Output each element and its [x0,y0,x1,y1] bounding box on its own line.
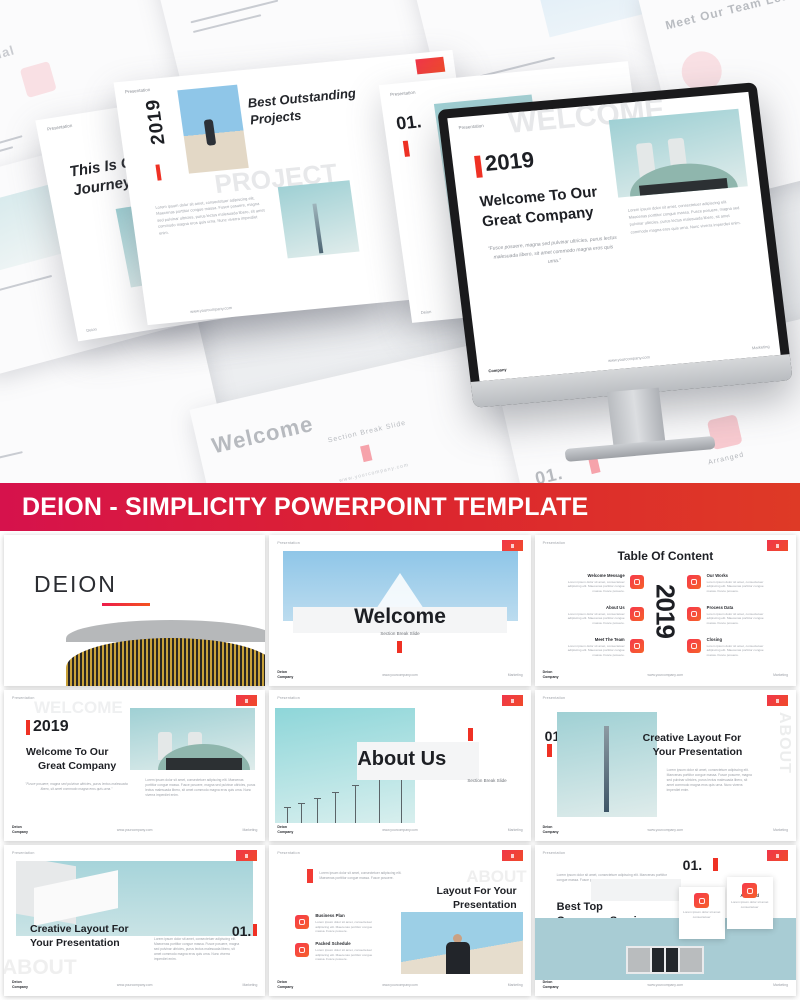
slide-watermark: ABOUT [4,956,77,980]
slide-corner-badge [767,850,788,861]
slide-number: 01. [443,0,476,4]
slide-quote: "Fusce posuere, magna sed pulvinar ultri… [487,234,620,272]
printed-slide-number: 01. [395,111,423,134]
accent-bar [713,858,718,871]
toc-year: 2019 [650,584,681,638]
slide-header-label: Presentation [12,696,35,700]
footer-company: DeionCompany [543,670,559,679]
accent-bar [253,924,257,936]
slide-number: 01. [533,463,565,483]
slide-header-label: Presentation [277,541,300,545]
accent-bar [26,720,30,735]
welcome-title: Welcome [269,605,530,629]
footer-url: www.yourcompany.com [339,462,410,483]
slide-corner-badge [502,540,523,551]
footer-company: DeionCompany [277,670,293,679]
gear-icon [742,883,757,898]
slide-header-label: Presentation [543,851,566,855]
printed-slide-title: Best Outstanding Projects [247,84,371,129]
footer-url: www.yourcompany.com [382,983,418,987]
toc-title: Table Of Content [535,549,796,563]
card-text: Lorem ipsum dolor sit amet consectetuer [679,910,725,919]
printed-slide-year: 2019 [142,98,170,146]
footer-url: www.yourcompany.com [648,673,684,677]
footer-right-label: Marketing [773,673,788,677]
briefcase-icon [694,893,709,908]
footer-right-label: Marketing [508,673,523,677]
slide-header-label: Presentation [277,851,300,855]
toc-item-text: Lorem ipsum dolor sit amet, consectetuer… [559,612,625,626]
footer-url: www.yourcompany.com [117,828,153,832]
slide-title-line2: Your Presentation [30,937,120,949]
slide-thumb-welcome[interactable]: Presentation Welcome Section Break Slide… [269,535,530,686]
footer-right-label: Marketing [508,828,523,832]
footer-company: DeionCompany [277,825,293,834]
footer-company: DeionCompany [12,980,28,989]
footer-company: Company [488,367,507,374]
toc-item-label: Our Works [707,573,773,578]
footer-url: www.yourcompany.com [648,983,684,987]
feature-text: Lorem ipsum dolor sit amet, consectetuer… [315,920,379,934]
slide-header-label: Presentation [390,90,416,97]
toc-item-label: Process Data [707,605,773,610]
slide-thumb-about-us[interactable]: Presentation About Us Section Break Slid… [269,690,530,841]
toc-item-text: Lorem ipsum dolor sit amet, consectetuer… [707,580,773,594]
card-text: Lorem ipsum dolor sit amet consectetuer [727,900,773,909]
slide-thumb-welcome-company[interactable]: Presentation WELCOME 2019 Welcome To Our… [4,690,265,841]
slide-title-line2: Presentation [453,899,517,911]
toc-item[interactable]: Welcome Message Lorem ipsum dolor sit am… [559,573,625,593]
template-preview-page: Testimonial 01. Meet Our Team Leader [0,0,800,1000]
chat-icon [630,575,644,589]
slide-year: 2019 [484,147,536,177]
decor-chip [20,61,57,98]
slide-quote: "Fusce posuere, magna sed pulvinar ultri… [24,782,129,792]
background-slide-subtitle: Section Break Slide [327,420,407,445]
slide-thumbnail-grid: DEION Presentation Welcome Section Break… [0,531,800,1000]
footer-url: www.yourcompany.com [190,305,232,314]
lock-icon [687,639,701,653]
feature-text: Lorem ipsum dolor sit amet, consectetuer… [315,948,379,962]
slide-body: Lorem ipsum dolor sit amet, consectetuer… [667,768,753,794]
printed-slide-body: Lorem ipsum dolor sit amet, consectetuer… [155,194,269,236]
slide-corner-badge [236,695,257,706]
footer-right-label: Marketing [242,983,257,987]
cover-logo: DEION [34,571,117,598]
person-photo [401,912,523,974]
monitor-stand-neck [607,388,666,448]
slide-watermark: ABOUT [466,867,526,887]
clock-icon [295,943,309,957]
slide-number: 01. [232,923,251,939]
briefcase-icon [295,915,309,929]
footer-company: DeionCompany [12,825,28,834]
slide-watermark: ABOUT [775,712,793,774]
slide-header-label: Presentation [543,696,566,700]
slide-corner-badge [415,57,445,75]
slide-thumb-table-of-content[interactable]: Presentation Table Of Content 2019 Welco… [535,535,796,686]
slide-thumb-company-services[interactable]: Presentation 01. Lorem ipsum dolor sit a… [535,845,796,996]
service-card[interactable]: Arranged Lorem ipsum dolor sit amet cons… [727,877,773,929]
toc-item[interactable]: Our Works Lorem ipsum dolor sit amet, co… [707,573,773,593]
company-photo [130,708,255,770]
slide-body: Lorem ipsum dolor sit amet, consectetuer… [145,778,255,798]
footer-url: www.yourcompany.com [382,673,418,677]
footer-company: DeionCompany [277,980,293,989]
toc-item-label: About Us [559,605,625,610]
imac-monitor-mockup: Presentation WELCOME 2019 Welcome To Our… [437,82,793,408]
slide-watermark: WELCOME [34,698,123,718]
lock-icon [630,639,644,653]
toc-item-text: Lorem ipsum dolor sit amet, consectetuer… [559,644,625,658]
slide-intro-text: Lorem ipsum dolor sit amet, consectetuer… [319,871,407,881]
slide-thumb-creative-right[interactable]: Presentation 01. ABOUT Creative Layout F… [535,690,796,841]
briefcase-icon [630,607,644,621]
footer-right-label: Marketing [773,983,788,987]
hero-mockup-image: Testimonial 01. Meet Our Team Leader [0,0,800,483]
feature-item[interactable]: Packed Schedule Lorem ipsum dolor sit am… [315,941,379,962]
footer-company: DeionCompany [543,980,559,989]
slide-title-line1: Creative Layout For [643,732,742,744]
banner-title: DEION - SIMPLICITY POWERPOINT TEMPLATE [22,493,588,522]
slide-title-line1: Best Top [557,901,603,913]
toc-item-text: Lorem ipsum dolor sit amet, consectetuer… [559,580,625,594]
slide-title-line2: Great Company [38,760,116,772]
slide-title-line1: Creative Layout For [30,923,129,935]
cover-architecture-photo [66,620,265,686]
slide-header-label: Presentation [277,696,300,700]
footer-company: DeionCompany [543,825,559,834]
about-title: About Us [357,748,446,771]
toc-item-label: Meet The Team [559,637,625,642]
card-label: Arranged [708,451,745,466]
slide-thumb-creative-left[interactable]: Presentation ABOUT Creative Layout For Y… [4,845,265,996]
footer-right-label: Marketing [242,828,257,832]
footer-right-label: Marketing [752,344,770,350]
slide-number: 01. [683,857,702,873]
footer-right-label: Marketing [508,983,523,987]
slide-corner-badge [767,695,788,706]
monitor-screen: Presentation WELCOME 2019 Welcome To Our… [447,92,780,381]
cart-icon [687,607,701,621]
footer-url: www.yourcompany.com [608,354,650,363]
service-card[interactable]: Profit Lorem ipsum dolor sit amet consec… [679,887,725,939]
toc-item-label: Closing [707,637,773,642]
toc-item[interactable]: About Us Lorem ipsum dolor sit amet, con… [559,605,625,625]
background-slide-title: Testimonial [0,42,16,79]
feature-label: Packed Schedule [315,941,379,946]
slide-body: Lorem ipsum dolor sit amet, consectetuer… [627,197,748,236]
slide-header-label: Presentation [47,123,73,132]
slide-body: Lorem ipsum dolor sit amet, consectetuer… [154,937,240,963]
bag-icon [687,575,701,589]
slide-year: 2019 [33,718,69,736]
footer-company: Deion [420,309,431,315]
welcome-subtitle: Section Break Slide [269,631,530,636]
footer-url: www.yourcompany.com [648,828,684,832]
slide-header-label: Presentation [12,851,35,855]
toc-item[interactable]: Process Data Lorem ipsum dolor sit amet,… [707,605,773,625]
feature-label: Business Plan [315,913,379,918]
slide-title-line2: Your Presentation [653,746,743,758]
slide-header-label: Presentation [458,123,484,130]
background-slide-title: Meet Our Team Leader [664,0,800,33]
accent-bar [307,869,313,883]
toc-item[interactable]: Meet The Team Lorem ipsum dolor sit amet… [559,637,625,657]
title-band [591,879,681,901]
footer-right-label: Marketing [773,828,788,832]
slide-corner-badge [502,695,523,706]
slide-header-label: Presentation [543,541,566,545]
window-detail [626,946,704,974]
slide-title-line1: Layout For Your [437,885,517,897]
feature-item[interactable]: Business Plan Lorem ipsum dolor sit amet… [315,913,379,934]
cover-accent-rule [102,603,150,606]
toc-item-text: Lorem ipsum dolor sit amet, consectetuer… [707,644,773,658]
background-slide-title: Welcome [209,411,315,460]
footer-company: Deion [86,326,97,333]
slide-corner-badge [236,850,257,861]
toc-item-text: Lorem ipsum dolor sit amet, consectetuer… [707,612,773,626]
footer-url: www.yourcompany.com [382,828,418,832]
toc-item-label: Welcome Message [559,573,625,578]
footer-url: www.yourcompany.com [117,983,153,987]
slide-title-line1: Welcome To Our [26,746,108,758]
slide-thumb-layout-features[interactable]: Presentation ABOUT Lorem ipsum dolor sit… [269,845,530,996]
about-subtitle: Section Break Slide [467,778,506,783]
accent-bar [547,744,552,757]
slide-thumb-cover[interactable]: DEION [4,535,265,686]
toc-item[interactable]: Closing Lorem ipsum dolor sit amet, cons… [707,637,773,657]
slide-header-label: Presentation [125,87,151,94]
tower-photo [557,712,657,817]
product-title-banner: DEION - SIMPLICITY POWERPOINT TEMPLATE [0,483,800,531]
slide-corner-badge [502,850,523,861]
